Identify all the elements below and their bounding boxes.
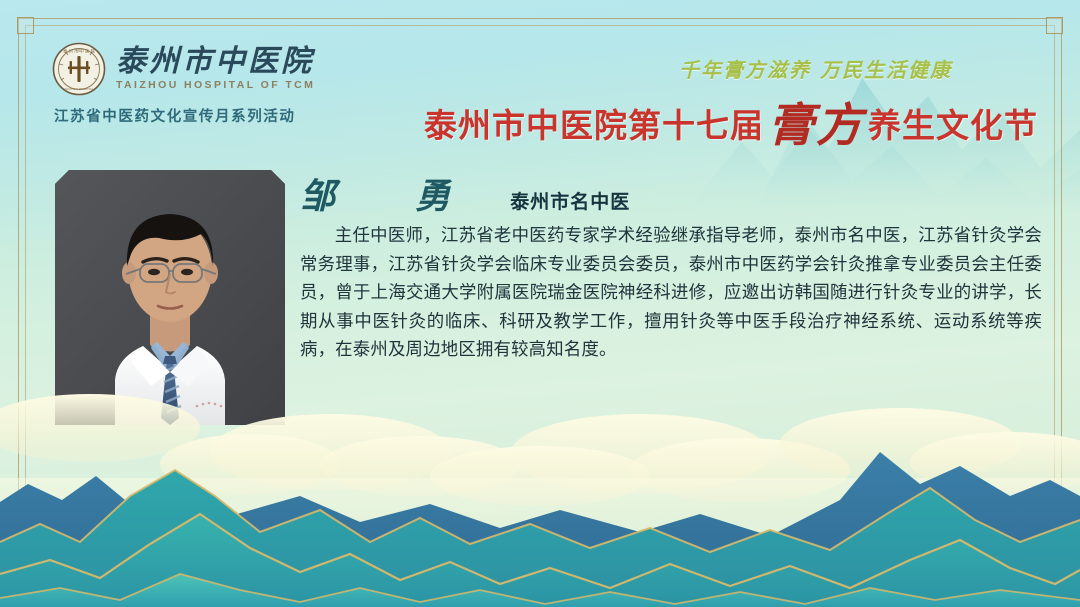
poster-canvas: 泰 州 市 中 医 院 TAIZHOU HOSPITAL 泰州市中医院 TAIZ…: [0, 0, 1080, 607]
festival-title: 泰州市中医院第十七届 膏方 养生文化节: [508, 85, 1038, 151]
doctor-portrait: [55, 170, 285, 425]
doctor-heading: 邹 勇 泰州市名中医: [300, 168, 630, 219]
svg-text:泰 州 市 中 医 院: 泰 州 市 中 医 院: [63, 48, 96, 55]
hospital-name-cn: 泰州市中医院: [116, 47, 315, 77]
svg-text:TAIZHOU HOSPITAL: TAIZHOU HOSPITAL: [64, 87, 94, 91]
brand-names: 泰州市中医院 TAIZHOU HOSPITAL OF TCM: [116, 47, 315, 91]
doctor-name: 邹 勇: [300, 168, 484, 219]
festival-slogan: 千年膏方滋养 万民生活健康: [508, 54, 952, 83]
festival-title-part-1: 泰州市中医院第十七届: [424, 99, 764, 147]
festival-title-block: 千年膏方滋养 万民生活健康 泰州市中医院第十七届 膏方 养生文化节: [508, 54, 1038, 151]
hospital-brand: 泰 州 市 中 医 院 TAIZHOU HOSPITAL 泰州市中医院 TAIZ…: [52, 42, 315, 126]
corner-ornament-top-left: [17, 17, 34, 34]
festival-title-brush: 膏方: [768, 89, 864, 155]
hospital-name-en: TAIZHOU HOSPITAL OF TCM: [116, 80, 315, 91]
brand-row: 泰 州 市 中 医 院 TAIZHOU HOSPITAL 泰州市中医院 TAIZ…: [52, 42, 315, 96]
corner-ornament-top-right: [1046, 17, 1063, 34]
hospital-seal-icon: 泰 州 市 中 医 院 TAIZHOU HOSPITAL: [52, 42, 106, 96]
festival-title-part-2: 养生文化节: [868, 99, 1038, 147]
doctor-honorific: 泰州市名中医: [510, 187, 630, 214]
doctor-bio: 主任中医师，江苏省老中医药专家学术经验继承指导老师，泰州市名中医，江苏省针灸学会…: [300, 222, 1042, 365]
campaign-subtitle: 江苏省中医药文化宣传月系列活动: [54, 105, 315, 126]
